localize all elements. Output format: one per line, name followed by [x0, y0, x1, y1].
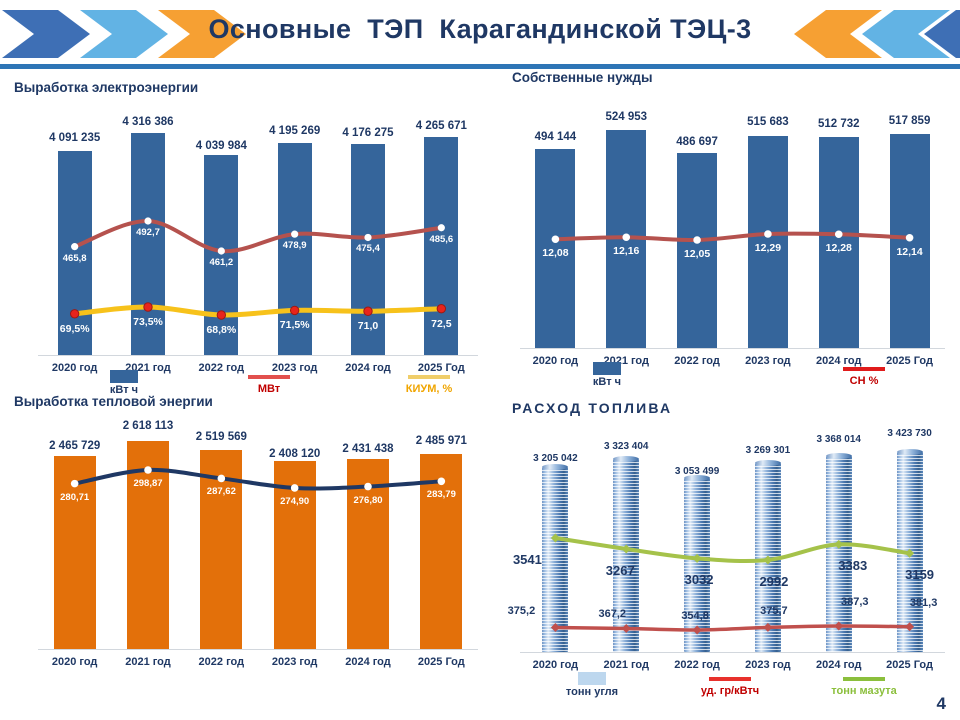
legend-line-swatch — [843, 367, 885, 371]
slide-header: Основные ТЭП Карагандинской ТЭЦ-3 — [0, 0, 960, 68]
legend-block-swatch — [110, 370, 138, 383]
line-value-label: 280,71 — [40, 492, 110, 503]
legend-item-2[interactable]: КИУМ, % — [384, 370, 474, 395]
legend-item-2[interactable]: тонн мазута — [819, 672, 909, 697]
legend-item-1[interactable]: МВт — [224, 370, 314, 395]
legend-item-1[interactable]: СН % — [819, 362, 909, 387]
line-value-label: 68,8% — [186, 324, 256, 336]
chart-panel-power-generation: Выработка электроэнергии 4 091 2354 316 … — [14, 80, 484, 380]
line-value-label: 492,7 — [113, 227, 183, 238]
line-value-label: 283,79 — [406, 489, 476, 500]
line-value-label: 461,2 — [186, 257, 256, 268]
page-number: 4 — [937, 694, 946, 714]
chart-title-own-needs: Собственные нужды — [512, 70, 653, 85]
line-value-label: 12,08 — [520, 247, 590, 259]
chart-title-heat-generation: Выработка тепловой энергии — [14, 394, 213, 409]
line-value-label: 276,80 — [333, 495, 403, 506]
chart-panel-own-needs: Собственные нужды 494 144524 953486 6975… — [512, 70, 952, 380]
line-value-label: 375,2 — [486, 605, 556, 617]
line-value-label: 12,05 — [662, 248, 732, 260]
line-value-label: 274,90 — [260, 496, 330, 507]
line-value-label: 73,5% — [113, 316, 183, 328]
legend-label: уд. гр/кВтч — [685, 685, 775, 697]
line-value-label: 71,0 — [333, 320, 403, 332]
line-value-label: 485,6 — [406, 234, 476, 245]
line-value-label: 287,62 — [186, 486, 256, 497]
page-title: Основные ТЭП Карагандинской ТЭЦ-3 — [0, 14, 960, 45]
legend-line-swatch — [709, 677, 751, 681]
line-value-label: 3159 — [885, 567, 955, 582]
x-axis-tick-1: 2021 год — [111, 656, 184, 668]
line-value-label: 475,4 — [333, 243, 403, 254]
x-axis-tick-2: 2022 год — [662, 355, 733, 367]
line-value-label: 3541 — [492, 552, 562, 567]
legend-item-1[interactable]: уд. гр/кВтч — [685, 672, 775, 697]
line-value-label: 12,29 — [733, 242, 803, 254]
chart-title-fuel-consumption: РАСХОД ТОПЛИВА — [512, 400, 672, 416]
x-axis-tick-5: 2025 Год — [874, 659, 945, 671]
line-value-label: 12,14 — [875, 246, 945, 258]
legend-line-swatch — [843, 677, 885, 681]
line-value-label: 72,5 — [406, 318, 476, 330]
legend-label: тонн угля — [547, 686, 637, 698]
x-axis-tick-2: 2022 год — [662, 659, 733, 671]
line-value-label: 465,8 — [40, 253, 110, 264]
line-value-label: 3032 — [664, 572, 734, 587]
header-rule — [0, 64, 960, 69]
x-axis-tick-3: 2023 год — [733, 659, 804, 671]
line-value-label: 478,9 — [260, 240, 330, 251]
legend-item-0[interactable]: кВт ч — [562, 362, 652, 388]
x-axis-tick-2: 2022 год — [185, 656, 258, 668]
plot-area-heat-generation: 2 465 7292 618 1132 519 5692 408 1202 43… — [38, 429, 478, 679]
chart-panel-fuel-consumption: РАСХОД ТОПЛИВА 3 205 0423 323 4043 053 4… — [512, 400, 952, 690]
legend-item-0[interactable]: кВт ч — [79, 370, 169, 396]
line-value-label: 3267 — [585, 563, 655, 578]
line-value-label: 12,28 — [804, 242, 874, 254]
line-value-label: 375,7 — [739, 605, 809, 617]
legend-label: КИУМ, % — [384, 383, 474, 395]
legend-label: тонн мазута — [819, 685, 909, 697]
plot-area-power-generation: 4 091 2354 316 3864 039 9844 195 2694 17… — [38, 125, 478, 405]
x-axis-tick-5: 2025 Год — [405, 656, 478, 668]
line-value-label: 354,8 — [660, 610, 730, 622]
chart-lines-fuel-consumption — [520, 430, 945, 680]
plot-area-fuel-consumption: 3 205 0423 323 4043 053 4993 269 3013 36… — [520, 430, 945, 680]
x-axis-tick-4: 2024 год — [803, 659, 874, 671]
x-axis-tick-1: 2021 год — [591, 659, 662, 671]
x-axis-tick-3: 2023 год — [733, 355, 804, 367]
legend-block-swatch — [578, 672, 606, 685]
x-axis-tick-4: 2024 год — [331, 656, 404, 668]
line-value-label: 367,2 — [577, 608, 647, 620]
line-value-label: 69,5% — [40, 323, 110, 335]
line-value-label: 3383 — [818, 558, 888, 573]
chart-title-power-generation: Выработка электроэнергии — [14, 80, 198, 95]
line-value-label: 387,3 — [820, 596, 890, 608]
line-value-label: 381,3 — [889, 597, 959, 609]
legend-label: кВт ч — [562, 376, 652, 388]
x-axis-tick-3: 2023 год — [258, 656, 331, 668]
legend-item-0[interactable]: тонн угля — [547, 672, 637, 698]
chart-lines-heat-generation — [38, 429, 478, 679]
legend-line-swatch — [408, 375, 450, 379]
legend-label: СН % — [819, 375, 909, 387]
legend-line-swatch — [248, 375, 290, 379]
line-value-label: 12,16 — [591, 245, 661, 257]
legend-label: МВт — [224, 383, 314, 395]
line-value-label: 298,87 — [113, 478, 183, 489]
plot-area-own-needs: 494 144524 953486 697515 683512 732517 8… — [520, 108, 945, 398]
line-value-label: 71,5% — [260, 319, 330, 331]
x-axis-tick-0: 2020 год — [520, 659, 591, 671]
line-value-label: 2992 — [739, 574, 809, 589]
chart-panel-heat-generation: Выработка тепловой энергии 2 465 7292 61… — [14, 394, 484, 684]
x-axis-tick-0: 2020 год — [38, 656, 111, 668]
legend-block-swatch — [593, 362, 621, 375]
